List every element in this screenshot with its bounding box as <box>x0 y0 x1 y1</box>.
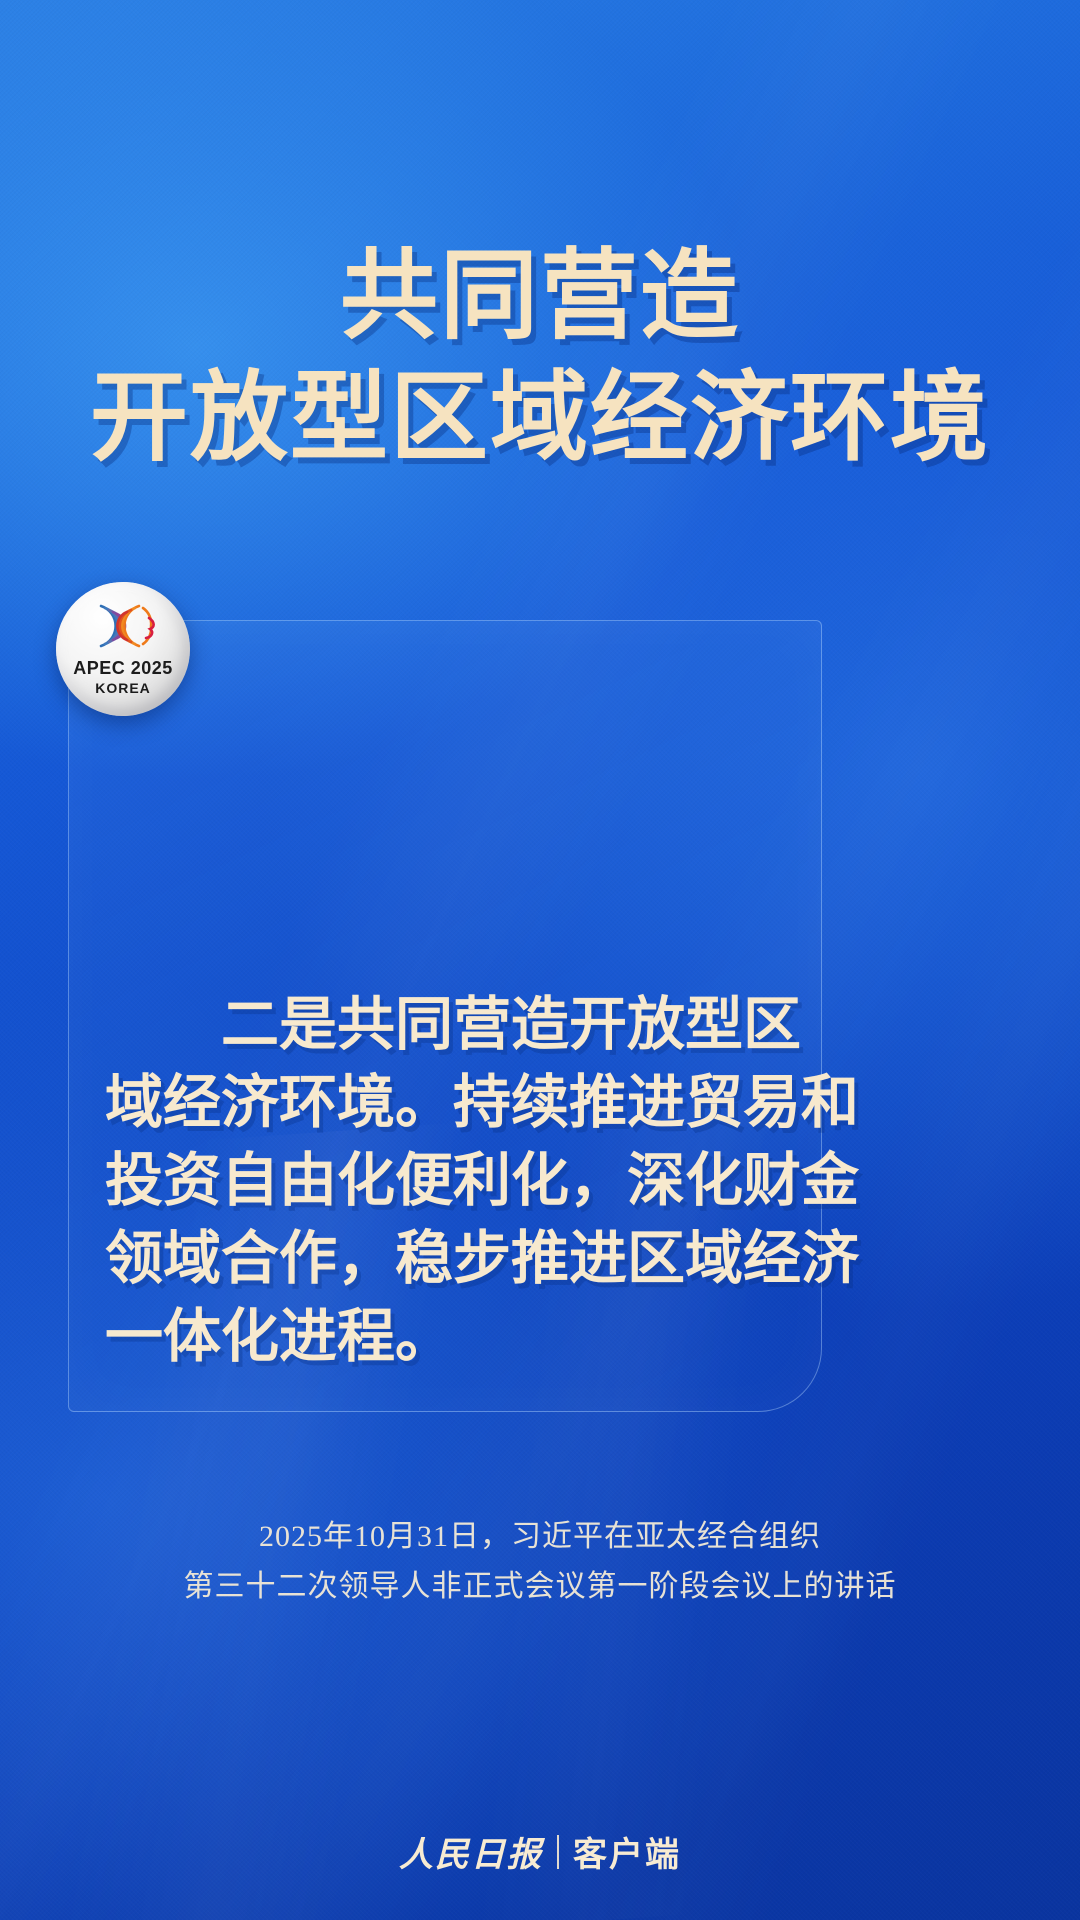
footer-brand-lockup: 人民日报 客户端 <box>0 1827 1080 1876</box>
quote-line-4: 领域合作，稳步推进区域经济 <box>105 1220 795 1298</box>
quote-line-1: 二是共同营造开放型区 <box>105 986 795 1064</box>
quote-text-block: 二是共同营造开放型区 域经济环境。持续推进贸易和 投资自由化便利化，深化财金 领… <box>105 986 795 1376</box>
apec-2025-korea-badge: APEC 2025 KOREA <box>56 582 190 716</box>
quote-attribution: 2025年10月31日，习近平在亚太经合组织 第三十二次领导人非正式会议第一阶段… <box>0 1512 1080 1612</box>
attribution-line-2: 第三十二次领导人非正式会议第一阶段会议上的讲话 <box>0 1562 1080 1612</box>
title-line-2: 开放型区域经济环境 <box>0 368 1080 466</box>
quote-line-3: 投资自由化便利化，深化财金 <box>105 1142 795 1220</box>
apec-face-wave-icon <box>81 602 165 655</box>
poster-title: 共同营造 开放型区域经济环境 <box>0 246 1080 466</box>
badge-korea-label: KOREA <box>95 680 151 696</box>
title-line-1: 共同营造 <box>0 246 1080 344</box>
attribution-line-1: 2025年10月31日，习近平在亚太经合组织 <box>0 1512 1080 1562</box>
quote-line-5: 一体化进程。 <box>105 1298 795 1376</box>
badge-apec-label: APEC 2025 <box>73 658 173 679</box>
quote-line-2: 域经济环境。持续推进贸易和 <box>105 1064 795 1142</box>
poster-canvas: 共同营造 开放型区域经济环境 <box>0 0 1080 1920</box>
footer-app-label: 客户端 <box>573 1827 681 1876</box>
peoples-daily-wordmark: 人民日报 <box>399 1827 543 1876</box>
footer-divider <box>557 1835 559 1869</box>
